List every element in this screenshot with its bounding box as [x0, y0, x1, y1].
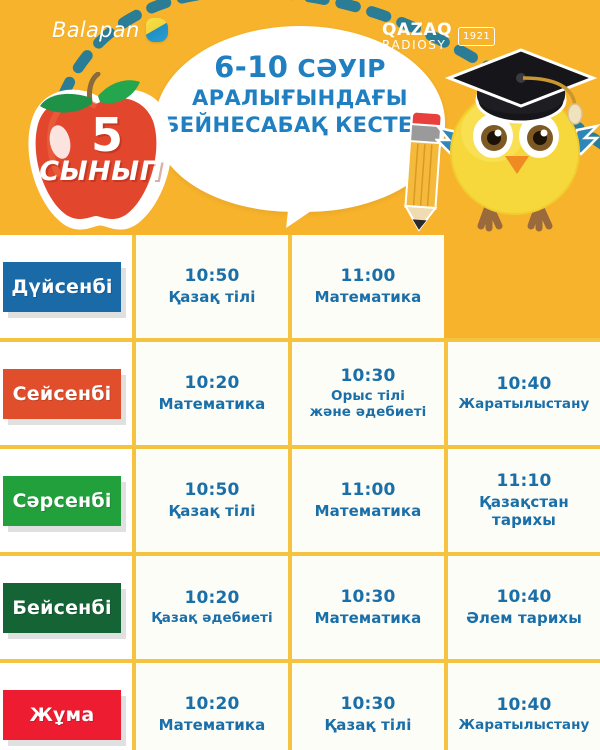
lesson-time: 10:50	[184, 267, 239, 287]
lesson-cell[interactable]: 10:50 Қазақ тілі	[132, 235, 288, 338]
lesson-time: 10:20	[184, 589, 239, 609]
grade-apple-badge: 5 СЫНЫП	[12, 72, 180, 234]
lesson-subject: Қазақстантарихы	[479, 493, 569, 529]
chick-with-graduation-cap-icon	[435, 28, 600, 235]
day-cell: Сейсенбі	[0, 342, 132, 445]
table-row: Сейсенбі 10:20 Математика 10:30 Орыс тіл…	[0, 338, 600, 445]
lesson-cell[interactable]: 10:20 Математика	[132, 663, 288, 750]
day-badge-wednesday[interactable]: Сәрсенбі	[3, 476, 121, 526]
lesson-time: 10:30	[340, 588, 395, 608]
day-badge-thursday[interactable]: Бейсенбі	[3, 583, 121, 633]
day-label: Сәрсенбі	[12, 490, 111, 512]
lesson-time: 11:00	[340, 481, 395, 501]
lesson-time: 10:30	[340, 367, 395, 387]
title-line-1: 6-10 СӘУІР	[160, 50, 440, 84]
day-label: Сейсенбі	[13, 383, 112, 405]
lesson-subject: Математика	[315, 288, 422, 306]
table-row: Сәрсенбі 10:50 Қазақ тілі 11:00 Математи…	[0, 445, 600, 552]
lesson-cell[interactable]: 10:20 Қазақ әдебиеті	[132, 556, 288, 659]
balapan-logo[interactable]: Balapan	[52, 18, 168, 42]
lesson-subject: Математика	[159, 716, 266, 734]
grade-label: СЫНЫП	[26, 156, 176, 187]
lesson-time: 10:40	[496, 375, 551, 395]
title-date-range: 6-10	[214, 50, 288, 84]
grade-number: 5	[72, 112, 142, 158]
lesson-cell[interactable]: 10:30 Орыс тіліжәне әдебиеті	[288, 342, 444, 445]
lesson-time: 11:10	[496, 472, 551, 492]
lesson-subject: Қазақ тілі	[169, 288, 256, 306]
table-row: Бейсенбі 10:20 Қазақ әдебиеті 10:30 Мате…	[0, 552, 600, 659]
schedule-grid: Дүйсенбі 10:50 Қазақ тілі 11:00 Математи…	[0, 235, 600, 750]
lesson-cell[interactable]: 10:40 Жаратылыстану	[444, 663, 600, 750]
lesson-cell[interactable]: 11:00 Математика	[288, 235, 444, 338]
lesson-time: 10:20	[184, 695, 239, 715]
lesson-cell[interactable]: 10:50 Қазақ тілі	[132, 449, 288, 552]
day-badge-monday[interactable]: Дүйсенбі	[3, 262, 121, 312]
balapan-leaf-logo-icon	[146, 18, 168, 42]
lesson-subject: Математика	[159, 395, 266, 413]
day-label: Дүйсенбі	[11, 276, 112, 298]
lesson-time: 10:40	[496, 588, 551, 608]
day-cell: Жұма	[0, 663, 132, 750]
day-badge-tuesday[interactable]: Сейсенбі	[3, 369, 121, 419]
day-label: Жұма	[30, 704, 95, 726]
lesson-subject: Орыс тіліжәне әдебиеті	[310, 388, 427, 420]
schedule-poster: Balapan QAZAQ RADIOSY 1921 5 СЫНЫП	[0, 0, 600, 750]
lesson-time: 10:50	[184, 481, 239, 501]
lesson-cell[interactable]: 10:40 Әлем тарихы	[444, 556, 600, 659]
lesson-subject: Қазақ тілі	[169, 502, 256, 520]
speech-bubble-tail	[286, 190, 326, 232]
title-month: СӘУІР	[297, 54, 385, 83]
balapan-wordmark: Balapan	[52, 18, 140, 42]
lesson-time: 10:30	[340, 695, 395, 715]
lesson-subject: Математика	[315, 609, 422, 627]
lesson-cell[interactable]: 11:10 Қазақстантарихы	[444, 449, 600, 552]
lesson-subject: Қазақ тілі	[325, 716, 412, 734]
lesson-subject: Қазақ әдебиеті	[151, 610, 273, 626]
lesson-subject: Математика	[315, 502, 422, 520]
lesson-cell[interactable]: 10:40 Жаратылыстану	[444, 342, 600, 445]
lesson-cell[interactable]: 10:30 Математика	[288, 556, 444, 659]
table-row: Дүйсенбі 10:50 Қазақ тілі 11:00 Математи…	[0, 235, 600, 338]
poster-title: 6-10 СӘУІР АРАЛЫҒЫНДАҒЫ БЕЙНЕСАБАҚ КЕСТЕ…	[160, 50, 440, 138]
day-cell: Дүйсенбі	[0, 235, 132, 338]
poster-header: Balapan QAZAQ RADIOSY 1921 5 СЫНЫП	[0, 0, 600, 235]
lesson-subject: Әлем тарихы	[466, 609, 582, 627]
lesson-cell[interactable]: 10:30 Қазақ тілі	[288, 663, 444, 750]
day-badge-friday[interactable]: Жұма	[3, 690, 121, 740]
lesson-subject: Жаратылыстану	[459, 396, 590, 412]
lesson-time: 10:40	[496, 696, 551, 716]
lesson-time: 11:00	[340, 267, 395, 287]
day-label: Бейсенбі	[12, 597, 111, 619]
title-line-3: БЕЙНЕСАБАҚ КЕСТЕСІ	[160, 113, 440, 138]
day-cell: Сәрсенбі	[0, 449, 132, 552]
title-line-2: АРАЛЫҒЫНДАҒЫ	[160, 86, 440, 111]
table-row: Жұма 10:20 Математика 10:30 Қазақ тілі 1…	[0, 659, 600, 750]
lesson-time: 10:20	[184, 374, 239, 394]
day-cell: Бейсенбі	[0, 556, 132, 659]
lesson-cell[interactable]: 10:20 Математика	[132, 342, 288, 445]
lesson-cell[interactable]: 11:00 Математика	[288, 449, 444, 552]
lesson-subject: Жаратылыстану	[459, 717, 590, 733]
